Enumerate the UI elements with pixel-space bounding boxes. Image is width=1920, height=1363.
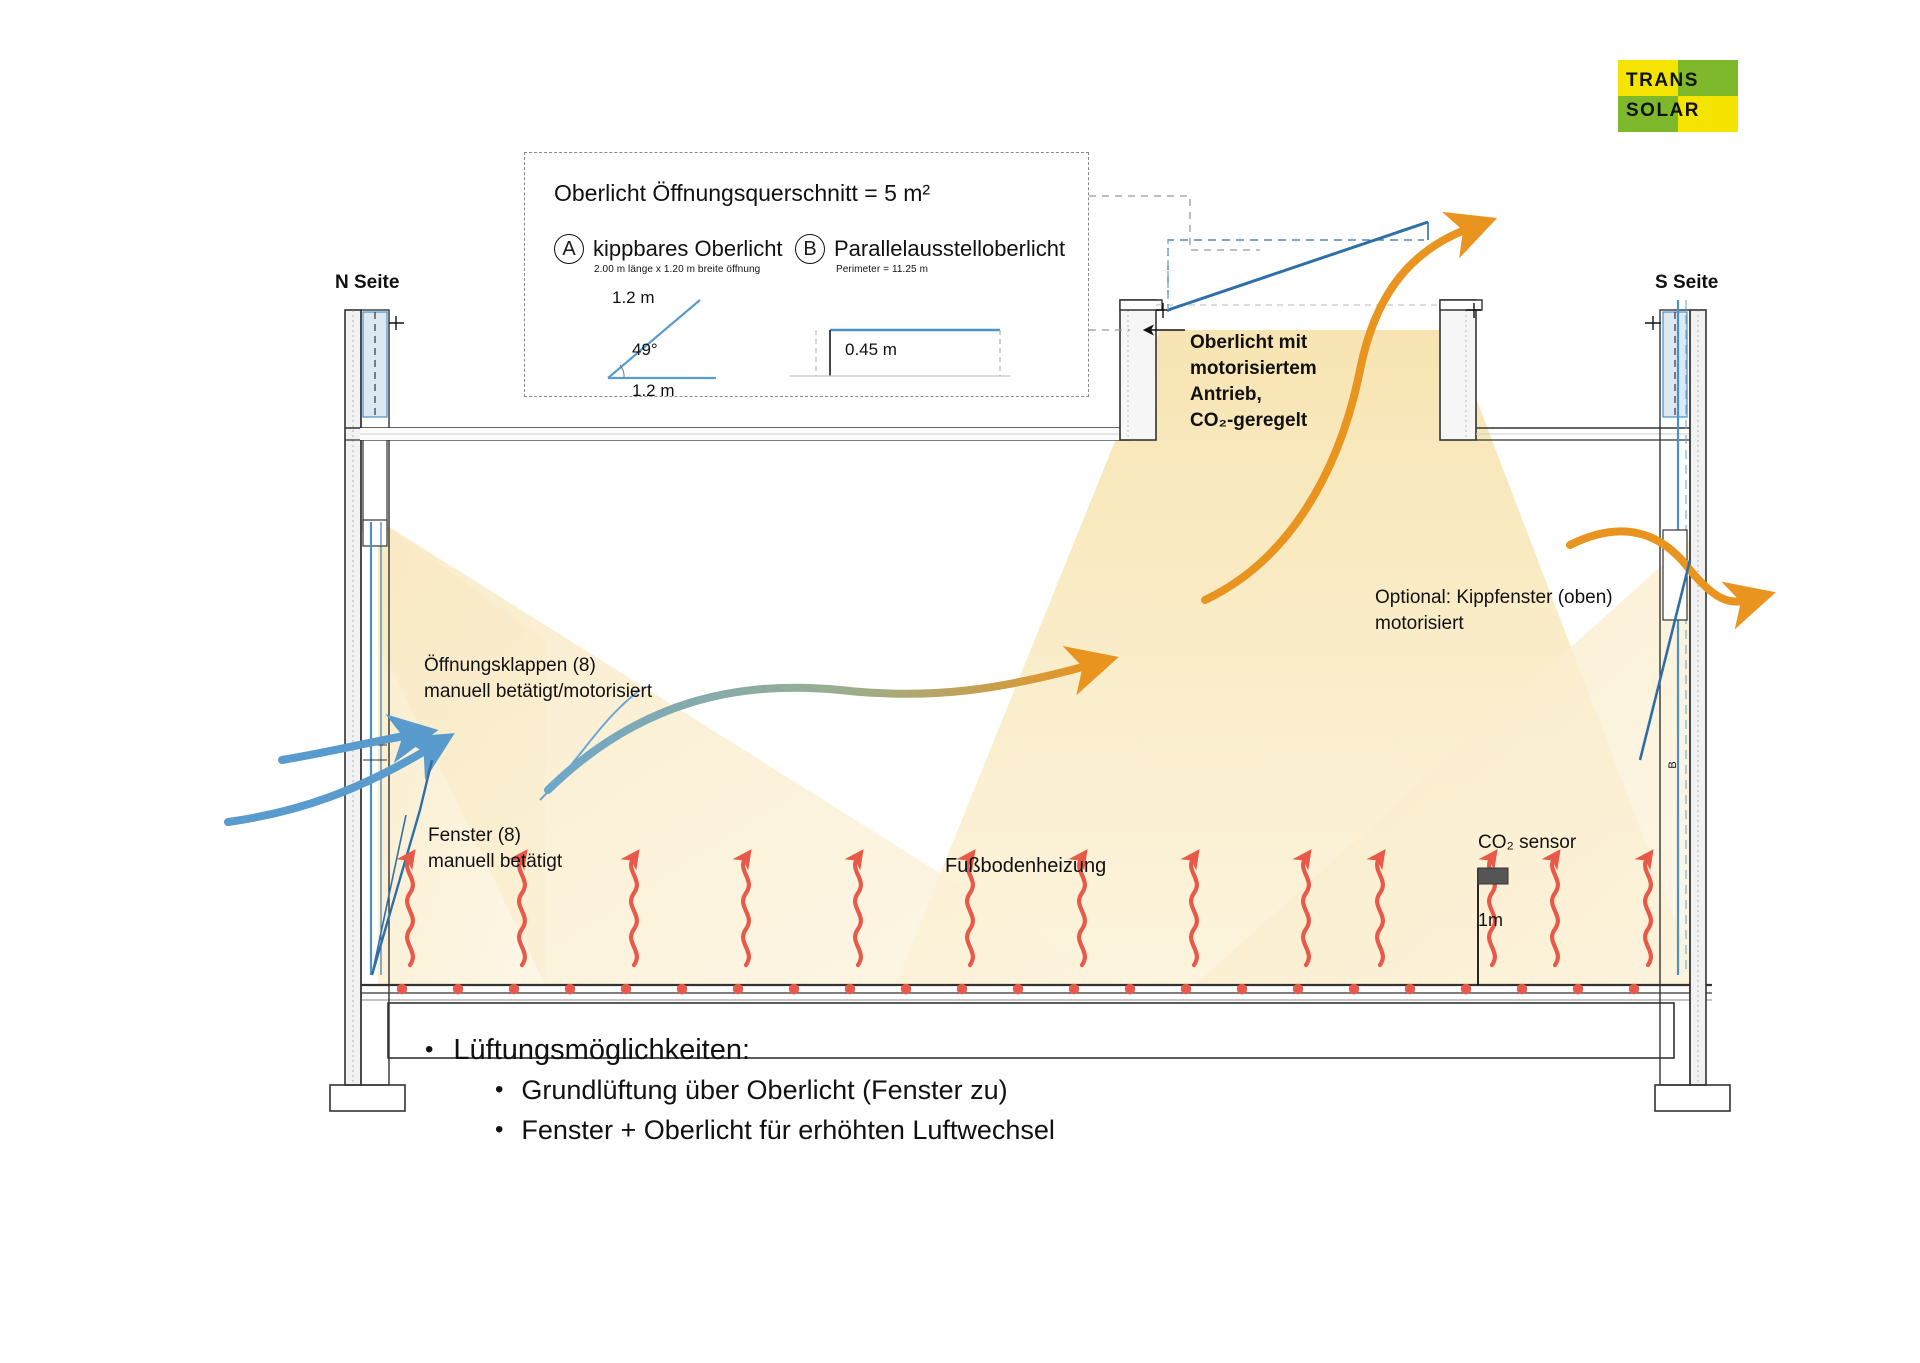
annotation-floor-heating: Fußbodenheizung — [945, 855, 1106, 878]
annotation-tilt-window: Optional: Kippfenster (oben) motorisiert — [1375, 585, 1613, 637]
label-north-side: N Seite — [335, 272, 399, 294]
bullet-main: • Lüftungsmöglichkeiten: — [425, 1030, 1325, 1070]
annotation-vent-flaps: Öffnungsklappen (8) manuell betätigt/mot… — [424, 653, 652, 705]
bullet-main-label: Lüftungsmöglichkeiten: — [453, 1030, 750, 1070]
annotation-sensor-height: 1m — [1478, 910, 1503, 931]
dimension-a-bottom: 1.2 m — [632, 381, 675, 401]
legend-title: Oberlicht Öffnungsquerschnitt = 5 m² — [554, 180, 930, 207]
bullet-dot-icon: • — [495, 1110, 503, 1150]
legend-badge-a-icon: A — [554, 234, 584, 264]
bullet-sub-2-label: Fenster + Oberlicht für erhöhten Luftwec… — [521, 1110, 1055, 1150]
legend-item-a-sub: 2.00 m länge x 1.20 m breite öffnung — [594, 264, 760, 275]
dimension-a-angle: 49° — [632, 340, 658, 360]
dimension-a-top: 1.2 m — [612, 288, 655, 308]
diagram-canvas: TRANS SOLAR — [0, 0, 1920, 1363]
bullet-sub-1-label: Grundlüftung über Oberlicht (Fenster zu) — [521, 1070, 1007, 1110]
legend-item-b: B Parallelausstelloberlicht — [795, 234, 1065, 264]
annotation-windows: Fenster (8) manuell betätigt — [428, 823, 562, 875]
bullet-sub-2: • Fenster + Oberlicht für erhöhten Luftw… — [495, 1110, 1325, 1150]
legend-badge-b-icon: B — [795, 234, 825, 264]
dimension-b: 0.45 m — [845, 340, 897, 360]
bullet-sub-1: • Grundlüftung über Oberlicht (Fenster z… — [495, 1070, 1325, 1110]
legend-item-a: A kippbares Oberlicht — [554, 234, 783, 264]
annotation-co2-sensor: CO₂ sensor — [1478, 832, 1576, 854]
bullet-dot-icon: • — [425, 1030, 433, 1070]
legend-item-b-label: Parallelausstelloberlicht — [834, 236, 1065, 262]
legend-item-b-sub: Perimeter = 11.25 m — [836, 264, 928, 275]
bullet-dot-icon: • — [495, 1070, 503, 1110]
svg-text:B: B — [1667, 761, 1679, 768]
annotation-skylight: Oberlicht mit motorisiertem Antrieb, CO₂… — [1190, 330, 1317, 434]
label-south-side: S Seite — [1655, 272, 1718, 294]
legend-item-a-label: kippbares Oberlicht — [593, 236, 783, 262]
bullet-list: • Lüftungsmöglichkeiten: • Grundlüftung … — [425, 1030, 1325, 1150]
